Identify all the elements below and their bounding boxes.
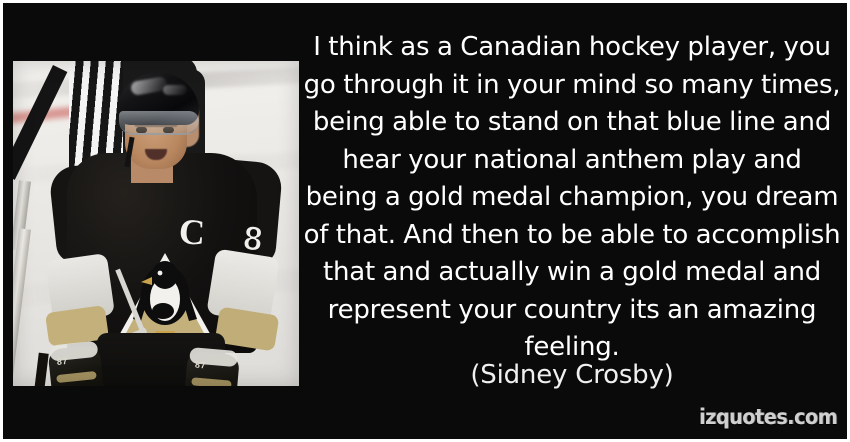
- quote-text: I think as a Canadian hockey player, you…: [303, 29, 841, 367]
- jersey-sleeve-number: 8: [234, 212, 269, 267]
- helmet-highlight: [163, 85, 187, 95]
- penguins-crest-icon: [113, 249, 217, 345]
- photo-stage: 8 C: [13, 61, 299, 386]
- glove-number: 87: [56, 356, 68, 367]
- glove-number: 87: [195, 360, 207, 371]
- quote-attribution: (Sidney Crosby): [303, 358, 841, 392]
- watermark-izquotes: izquotes.com: [699, 405, 837, 429]
- quote-card: 8 C: [0, 0, 850, 442]
- hockey-glove-right: 87: [182, 351, 240, 386]
- helmet-visor: [119, 111, 199, 135]
- hockey-glove-left: 87: [47, 344, 106, 386]
- jersey-captain-letter: C: [174, 210, 210, 254]
- glove-gold-stripe: [191, 377, 232, 386]
- glove-gold-stripe: [56, 371, 97, 383]
- hockey-player-photo: 8 C: [13, 61, 299, 386]
